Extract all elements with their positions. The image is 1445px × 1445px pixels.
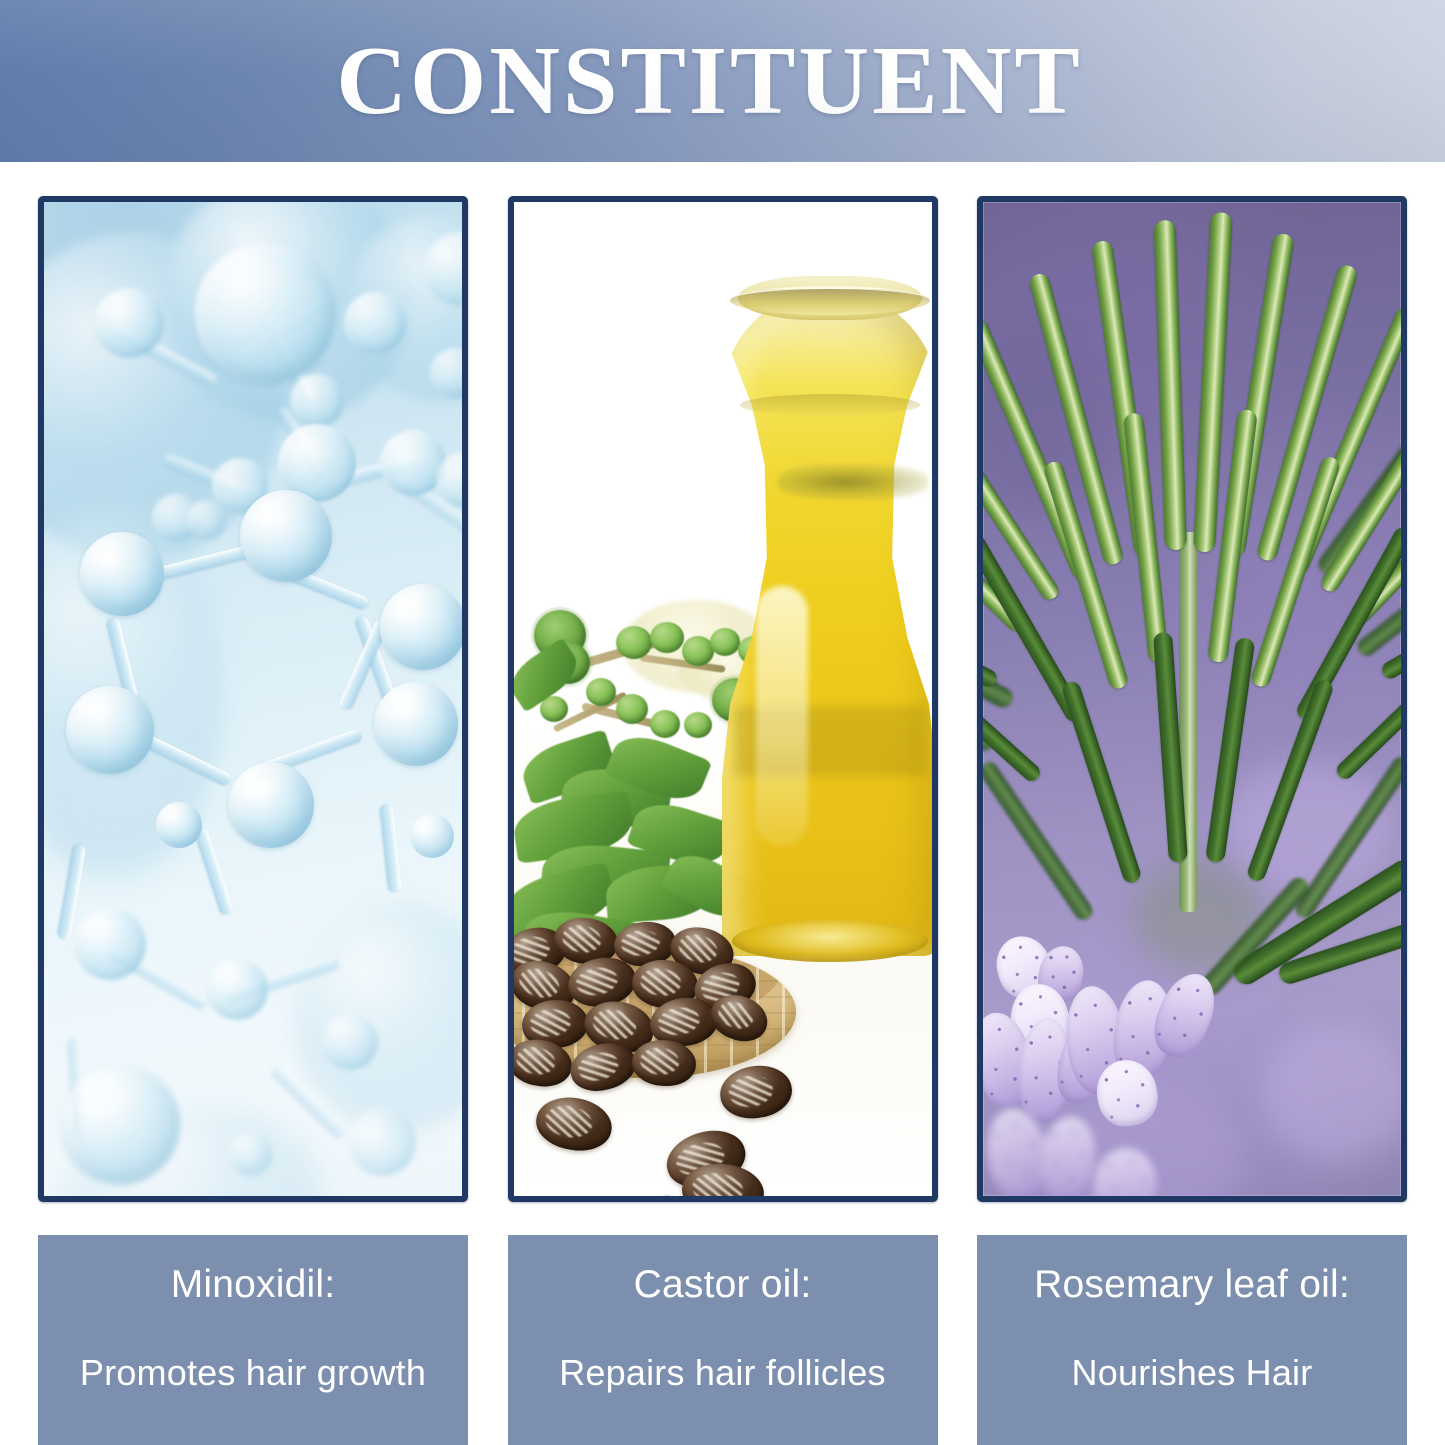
minoxidil-molecule-photo [38, 196, 468, 1202]
castor-pod [650, 622, 684, 653]
caption-title: Minoxidil: [171, 1265, 336, 1306]
ingredient-column-castor-oil: Castor oil: Repairs hair follicles [508, 196, 938, 1445]
rosemary-photo-inner [983, 202, 1401, 1196]
minoxidil-photo-inner [44, 202, 462, 1196]
castor-photo-inner [514, 202, 932, 1196]
molecule-atom [348, 1108, 416, 1176]
molecule-atom [80, 532, 164, 616]
caption-title: Castor oil: [634, 1265, 812, 1306]
molecule-atom [374, 682, 458, 766]
page-title: CONSTITUENT [0, 32, 1445, 130]
castor-pod [682, 636, 714, 666]
header-banner: CONSTITUENT [0, 0, 1445, 162]
oil-carafe [722, 276, 932, 956]
molecule-atom [240, 490, 332, 582]
caption-description: Nourishes Hair [1072, 1354, 1313, 1392]
molecule-atom [410, 814, 454, 858]
castor-pod [586, 678, 616, 706]
molecule-atom [60, 1064, 180, 1184]
molecule-atom [290, 374, 344, 428]
molecule-atom [344, 292, 406, 354]
ingredient-column-rosemary: Rosemary leaf oil: Nourishes Hair [977, 196, 1407, 1445]
oil-surface [740, 394, 920, 416]
molecule-atom [380, 584, 462, 670]
herb-in-oil [778, 464, 928, 500]
castor-pod [616, 626, 652, 659]
molecule-atom [228, 1132, 272, 1176]
molecule-atom [156, 802, 202, 848]
carafe-highlight [756, 586, 808, 846]
carafe-rim [730, 286, 930, 315]
caption-title: Rosemary leaf oil: [1034, 1265, 1350, 1306]
castor-pod [684, 712, 712, 738]
molecule-atom [186, 500, 226, 540]
ingredient-column-minoxidil: Minoxidil: Promotes hair growth [38, 196, 468, 1445]
castor-oil-photo [508, 196, 938, 1202]
flower-petal [1089, 1145, 1160, 1196]
rosemary-leaf-oil-photo [977, 196, 1407, 1202]
molecule-atom [228, 762, 314, 848]
ingredient-columns: Minoxidil: Promotes hair growth [38, 196, 1407, 1445]
caption-panel-castor-oil: Castor oil: Repairs hair follicles [508, 1235, 938, 1445]
caption-description: Repairs hair follicles [559, 1354, 886, 1392]
molecule-atom [322, 1014, 378, 1070]
castor-pod [650, 710, 680, 738]
background-bokeh [1263, 1022, 1401, 1162]
molecule-atom [66, 686, 154, 774]
molecule-atom [206, 958, 268, 1020]
carafe-body [722, 292, 932, 956]
caption-panel-rosemary: Rosemary leaf oil: Nourishes Hair [977, 1235, 1407, 1445]
flower-petal [1092, 1055, 1163, 1130]
molecule-atom [94, 288, 164, 358]
molecule-atom [194, 242, 336, 384]
castor-pod [616, 694, 648, 724]
caption-panel-minoxidil: Minoxidil: Promotes hair growth [38, 1235, 468, 1445]
molecule-atom [74, 908, 146, 980]
caption-description: Promotes hair growth [80, 1354, 426, 1392]
